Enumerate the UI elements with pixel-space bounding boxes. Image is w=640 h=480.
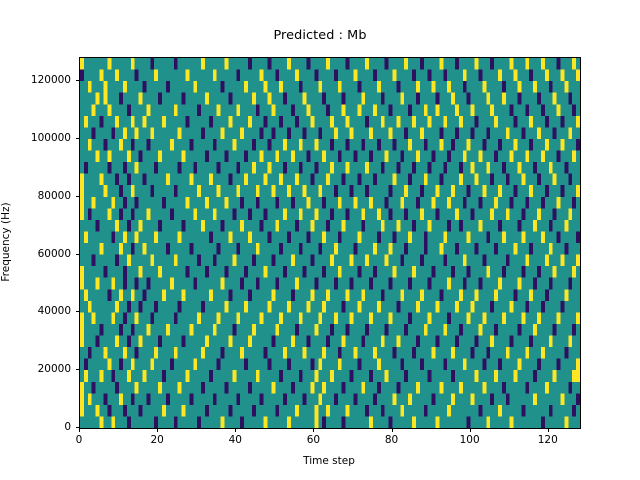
x-tick-label: 20: [150, 434, 163, 446]
x-tick: [157, 428, 158, 432]
y-tick-label-text: 100000: [31, 132, 71, 144]
y-tick-label: 20000: [71, 363, 104, 375]
y-tick-label: 120000: [71, 74, 111, 86]
x-tick: [548, 428, 549, 432]
y-tick-label: 60000: [71, 248, 104, 260]
x-tick-label: 60: [307, 434, 320, 446]
x-tick: [392, 428, 393, 432]
x-tick-label: 80: [385, 434, 398, 446]
heatmap-image[interactable]: [80, 58, 580, 428]
y-tick-label: 80000: [71, 190, 104, 202]
y-tick-label-text: 80000: [38, 190, 71, 202]
matplotlib-figure: Predicted : Mb Time step Frequency (Hz) …: [0, 0, 640, 480]
x-tick: [470, 428, 471, 432]
y-tick-label-text: 60000: [38, 248, 71, 260]
y-tick-label-text: 20000: [38, 363, 71, 375]
x-tick: [235, 428, 236, 432]
x-tick-label: 100: [460, 434, 480, 446]
y-tick-label: 0: [71, 421, 78, 433]
y-tick-label-text: 0: [64, 421, 71, 433]
y-axis-label: Frequency (Hz): [0, 202, 12, 281]
x-tick: [313, 428, 314, 432]
y-tick-label: 100000: [71, 132, 111, 144]
y-tick-label-text: 120000: [31, 74, 71, 86]
x-tick-label: 40: [229, 434, 242, 446]
y-tick-label-text: 40000: [38, 305, 71, 317]
chart-title: Predicted : Mb: [0, 28, 640, 43]
plot-axes[interactable]: [79, 57, 581, 429]
x-tick: [79, 428, 80, 432]
heatmap-canvas[interactable]: [80, 58, 580, 428]
x-axis-label: Time step: [79, 455, 579, 467]
y-tick-label: 40000: [71, 305, 104, 317]
x-tick-label: 120: [538, 434, 558, 446]
x-tick-label: 0: [76, 434, 83, 446]
